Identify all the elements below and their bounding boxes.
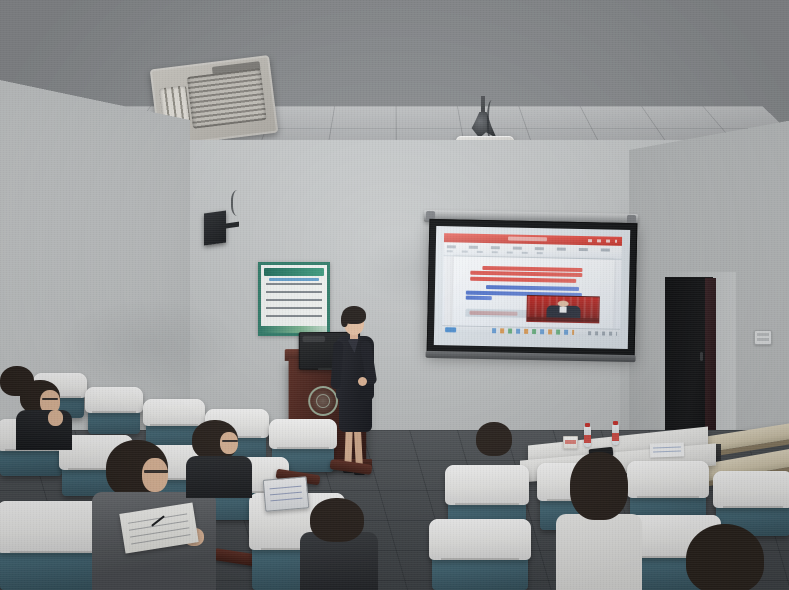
attendee-right-mid xyxy=(556,452,642,590)
auditorium-seat[interactable] xyxy=(432,524,528,590)
presenter-skirt xyxy=(339,396,372,432)
wall-shading xyxy=(60,300,240,390)
photo-figure-shirt xyxy=(560,306,567,313)
window-controls[interactable] xyxy=(588,239,617,243)
attendee-face xyxy=(220,432,238,454)
document-page xyxy=(453,256,615,329)
bottle-cap xyxy=(613,421,618,425)
attendee-front-center xyxy=(300,498,380,590)
auditorium-seat[interactable] xyxy=(88,392,140,434)
glasses-icon xyxy=(222,440,238,442)
bottle-label xyxy=(612,433,619,441)
wall-poster xyxy=(258,262,330,336)
printed-papers[interactable] xyxy=(650,442,684,457)
auditorium-seat[interactable] xyxy=(0,506,106,590)
document-text-line xyxy=(470,276,576,282)
attendee-right-back xyxy=(472,422,516,478)
speaker-cable xyxy=(231,190,247,216)
document-text-line xyxy=(466,296,492,301)
glasses-icon xyxy=(42,398,58,400)
door-handle-icon[interactable] xyxy=(700,352,703,361)
seat-cover xyxy=(429,519,531,560)
bottle-cap xyxy=(585,423,590,427)
start-button-icon[interactable] xyxy=(445,327,456,332)
water-bottle[interactable] xyxy=(612,424,619,445)
photo-podium xyxy=(528,317,599,322)
seat-cover xyxy=(713,471,789,508)
attendee-shoulders xyxy=(556,514,642,590)
app-title-text xyxy=(508,237,547,242)
wall-speaker xyxy=(204,210,226,245)
poster-header xyxy=(264,268,325,275)
ac-grille xyxy=(187,69,267,129)
attendee-head xyxy=(310,498,364,542)
presenter xyxy=(330,303,376,475)
projected-document-app xyxy=(442,233,623,337)
lecture-room-photo xyxy=(0,0,789,590)
attendee-head xyxy=(570,452,628,520)
glasses-icon xyxy=(144,470,168,473)
document-text-line xyxy=(486,285,579,291)
photo-figure-head xyxy=(558,300,569,306)
presenter-hair xyxy=(342,306,366,324)
seat-cover xyxy=(269,419,337,449)
projection-screen-surface xyxy=(434,226,630,349)
light-switch-panel[interactable] xyxy=(754,330,772,345)
attendee-left-front xyxy=(16,380,74,446)
document-embedded-photo xyxy=(527,294,600,323)
projection-screen[interactable] xyxy=(427,219,638,358)
ribbon-buttons[interactable] xyxy=(447,250,551,255)
attendee-hand xyxy=(48,410,63,426)
system-tray-icons[interactable] xyxy=(588,331,617,336)
monitor-glint xyxy=(303,336,325,342)
attendee-head xyxy=(476,422,512,456)
attendee-shoulders xyxy=(186,456,252,498)
attendee-far-right xyxy=(680,524,770,590)
seat-cover xyxy=(85,387,143,413)
attendee-center xyxy=(186,420,256,490)
poster-text-lines xyxy=(266,283,321,323)
attendee-head xyxy=(686,524,764,590)
bottle-label xyxy=(584,435,591,443)
poster-subtitle xyxy=(269,278,319,281)
tissue-box[interactable] xyxy=(563,436,578,449)
presenter-hand xyxy=(358,377,367,386)
water-bottle[interactable] xyxy=(584,426,591,447)
attendee-face xyxy=(142,458,168,492)
attendee-shoulders xyxy=(16,410,72,450)
taskbar-app-icons[interactable] xyxy=(492,328,574,335)
